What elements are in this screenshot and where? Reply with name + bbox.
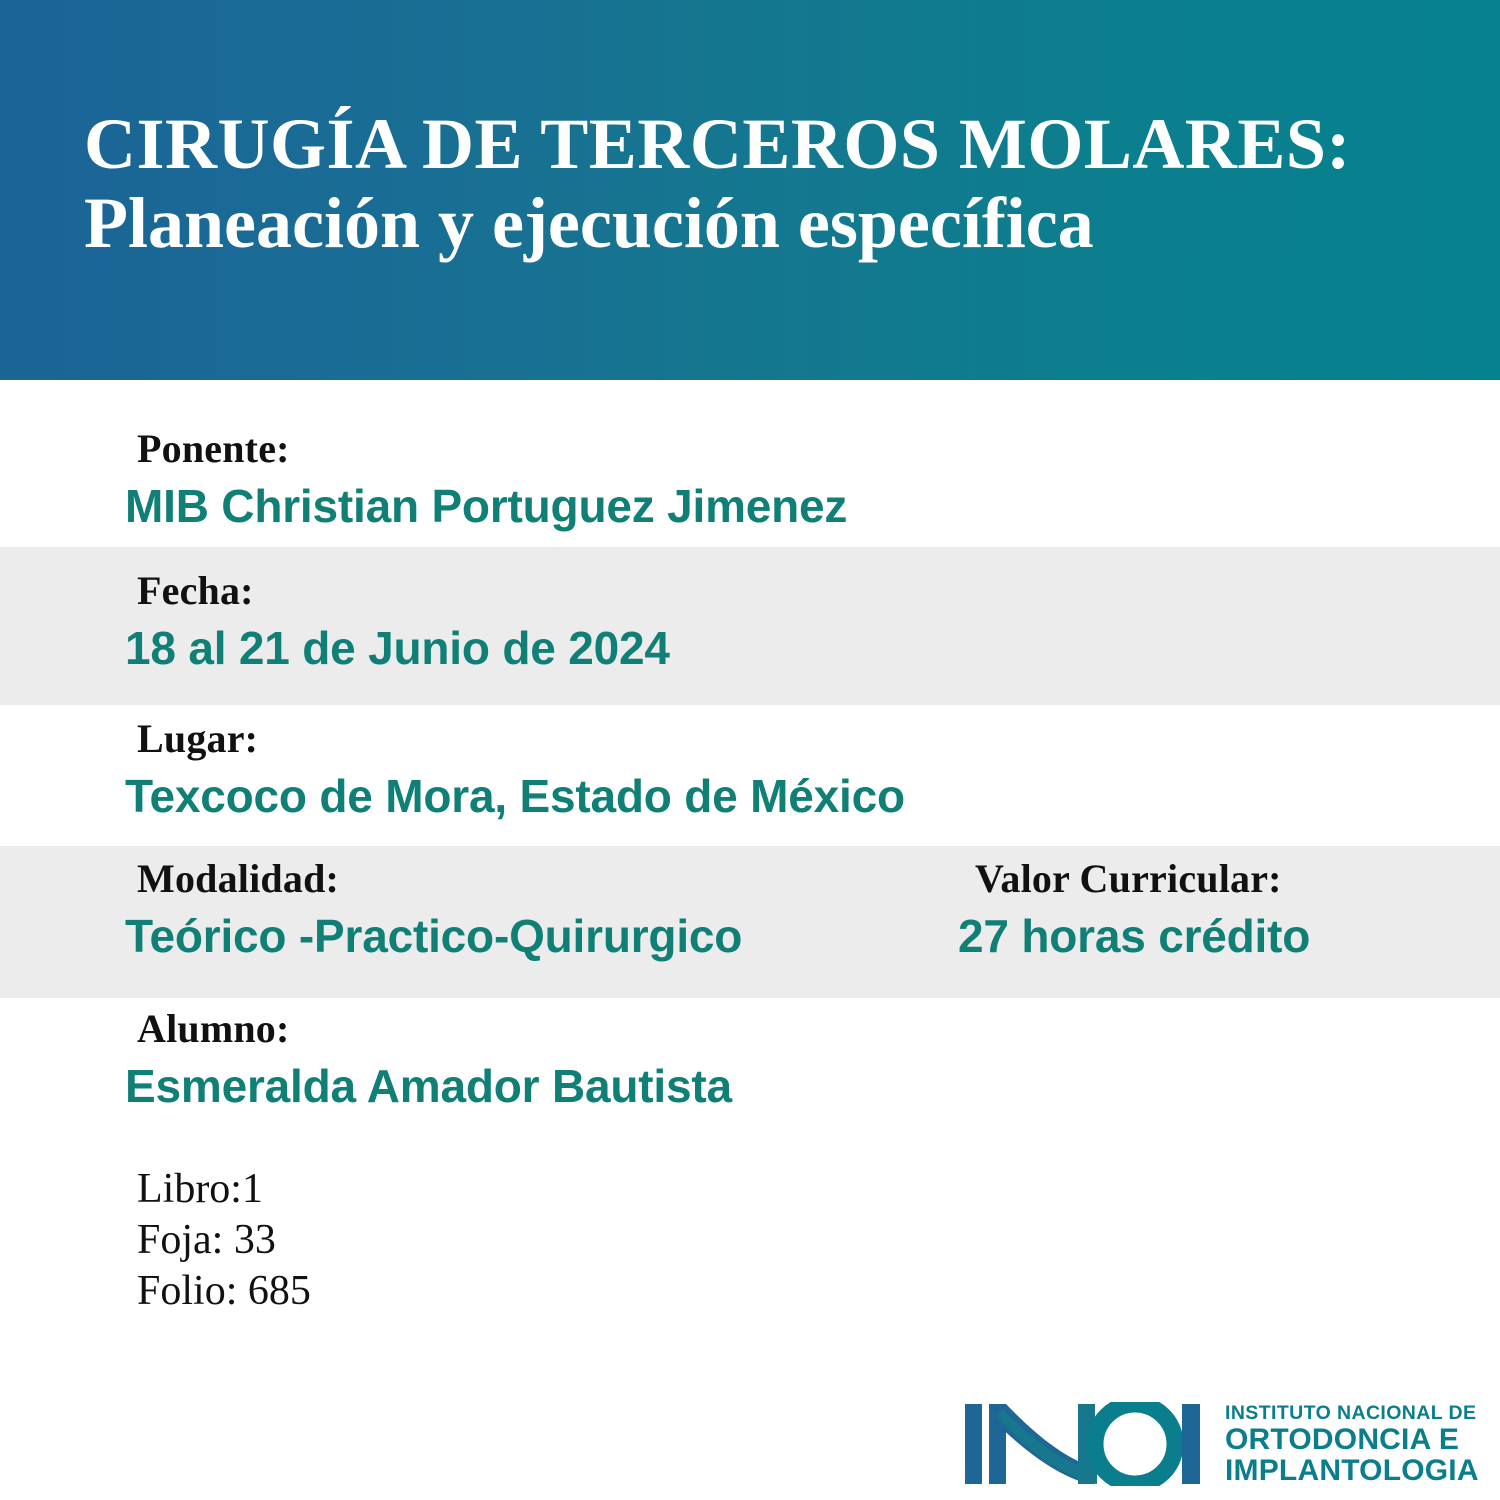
page-title-line-1: CIRUGÍA DE TERCEROS MOLARES: [84,108,1424,181]
inoi-logo-text: INSTITUTO NACIONAL DE ORTODONCIA E IMPLA… [1225,1402,1475,1486]
field-modalidad: Modalidad: Teórico -Practico-Quirurgico [125,858,742,960]
field-modalidad-label: Modalidad: [137,858,742,900]
field-fecha-label: Fecha: [137,570,670,612]
field-ponente-label: Ponente: [137,428,847,470]
inoi-logo: INSTITUTO NACIONAL DE ORTODONCIA E IMPLA… [963,1402,1475,1486]
field-alumno: Alumno: Esmeralda Amador Bautista [125,1008,732,1110]
certificate-page: CIRUGÍA DE TERCEROS MOLARES: Planeación … [0,0,1500,1500]
field-lugar-label: Lugar: [137,718,905,760]
registry-folio: Folio: 685 [137,1266,311,1317]
inoi-logo-line-1: INSTITUTO NACIONAL DE [1225,1402,1475,1424]
field-lugar-value: Texcoco de Mora, Estado de México [125,772,905,820]
page-title-line-2: Planeación y ejecución específica [84,187,1424,260]
field-lugar: Lugar: Texcoco de Mora, Estado de México [125,718,905,820]
field-ponente-value: MIB Christian Portuguez Jimenez [125,482,847,530]
header-banner: CIRUGÍA DE TERCEROS MOLARES: Planeación … [0,0,1500,380]
page-title: CIRUGÍA DE TERCEROS MOLARES: Planeación … [84,108,1424,261]
field-alumno-label: Alumno: [137,1008,732,1050]
field-valor-curricular: Valor Curricular: 27 horas crédito [958,858,1310,960]
field-valor-curricular-label: Valor Curricular: [975,858,1310,900]
field-ponente: Ponente: MIB Christian Portuguez Jimenez [125,428,847,530]
field-valor-curricular-value: 27 horas crédito [958,912,1310,960]
field-fecha-value: 18 al 21 de Junio de 2024 [125,624,670,672]
registry-libro: Libro:1 [137,1164,311,1215]
registry-foja: Foja: 33 [137,1215,311,1266]
field-alumno-value: Esmeralda Amador Bautista [125,1062,732,1110]
field-fecha: Fecha: 18 al 21 de Junio de 2024 [125,570,670,672]
registry-block: Libro:1 Foja: 33 Folio: 685 [137,1164,311,1318]
field-modalidad-value: Teórico -Practico-Quirurgico [125,912,742,960]
inoi-logo-line-3: IMPLANTOLOGIA [1225,1455,1475,1486]
inoi-logo-line-2: ORTODONCIA E [1225,1424,1475,1455]
inoi-logomark-icon [963,1402,1213,1486]
